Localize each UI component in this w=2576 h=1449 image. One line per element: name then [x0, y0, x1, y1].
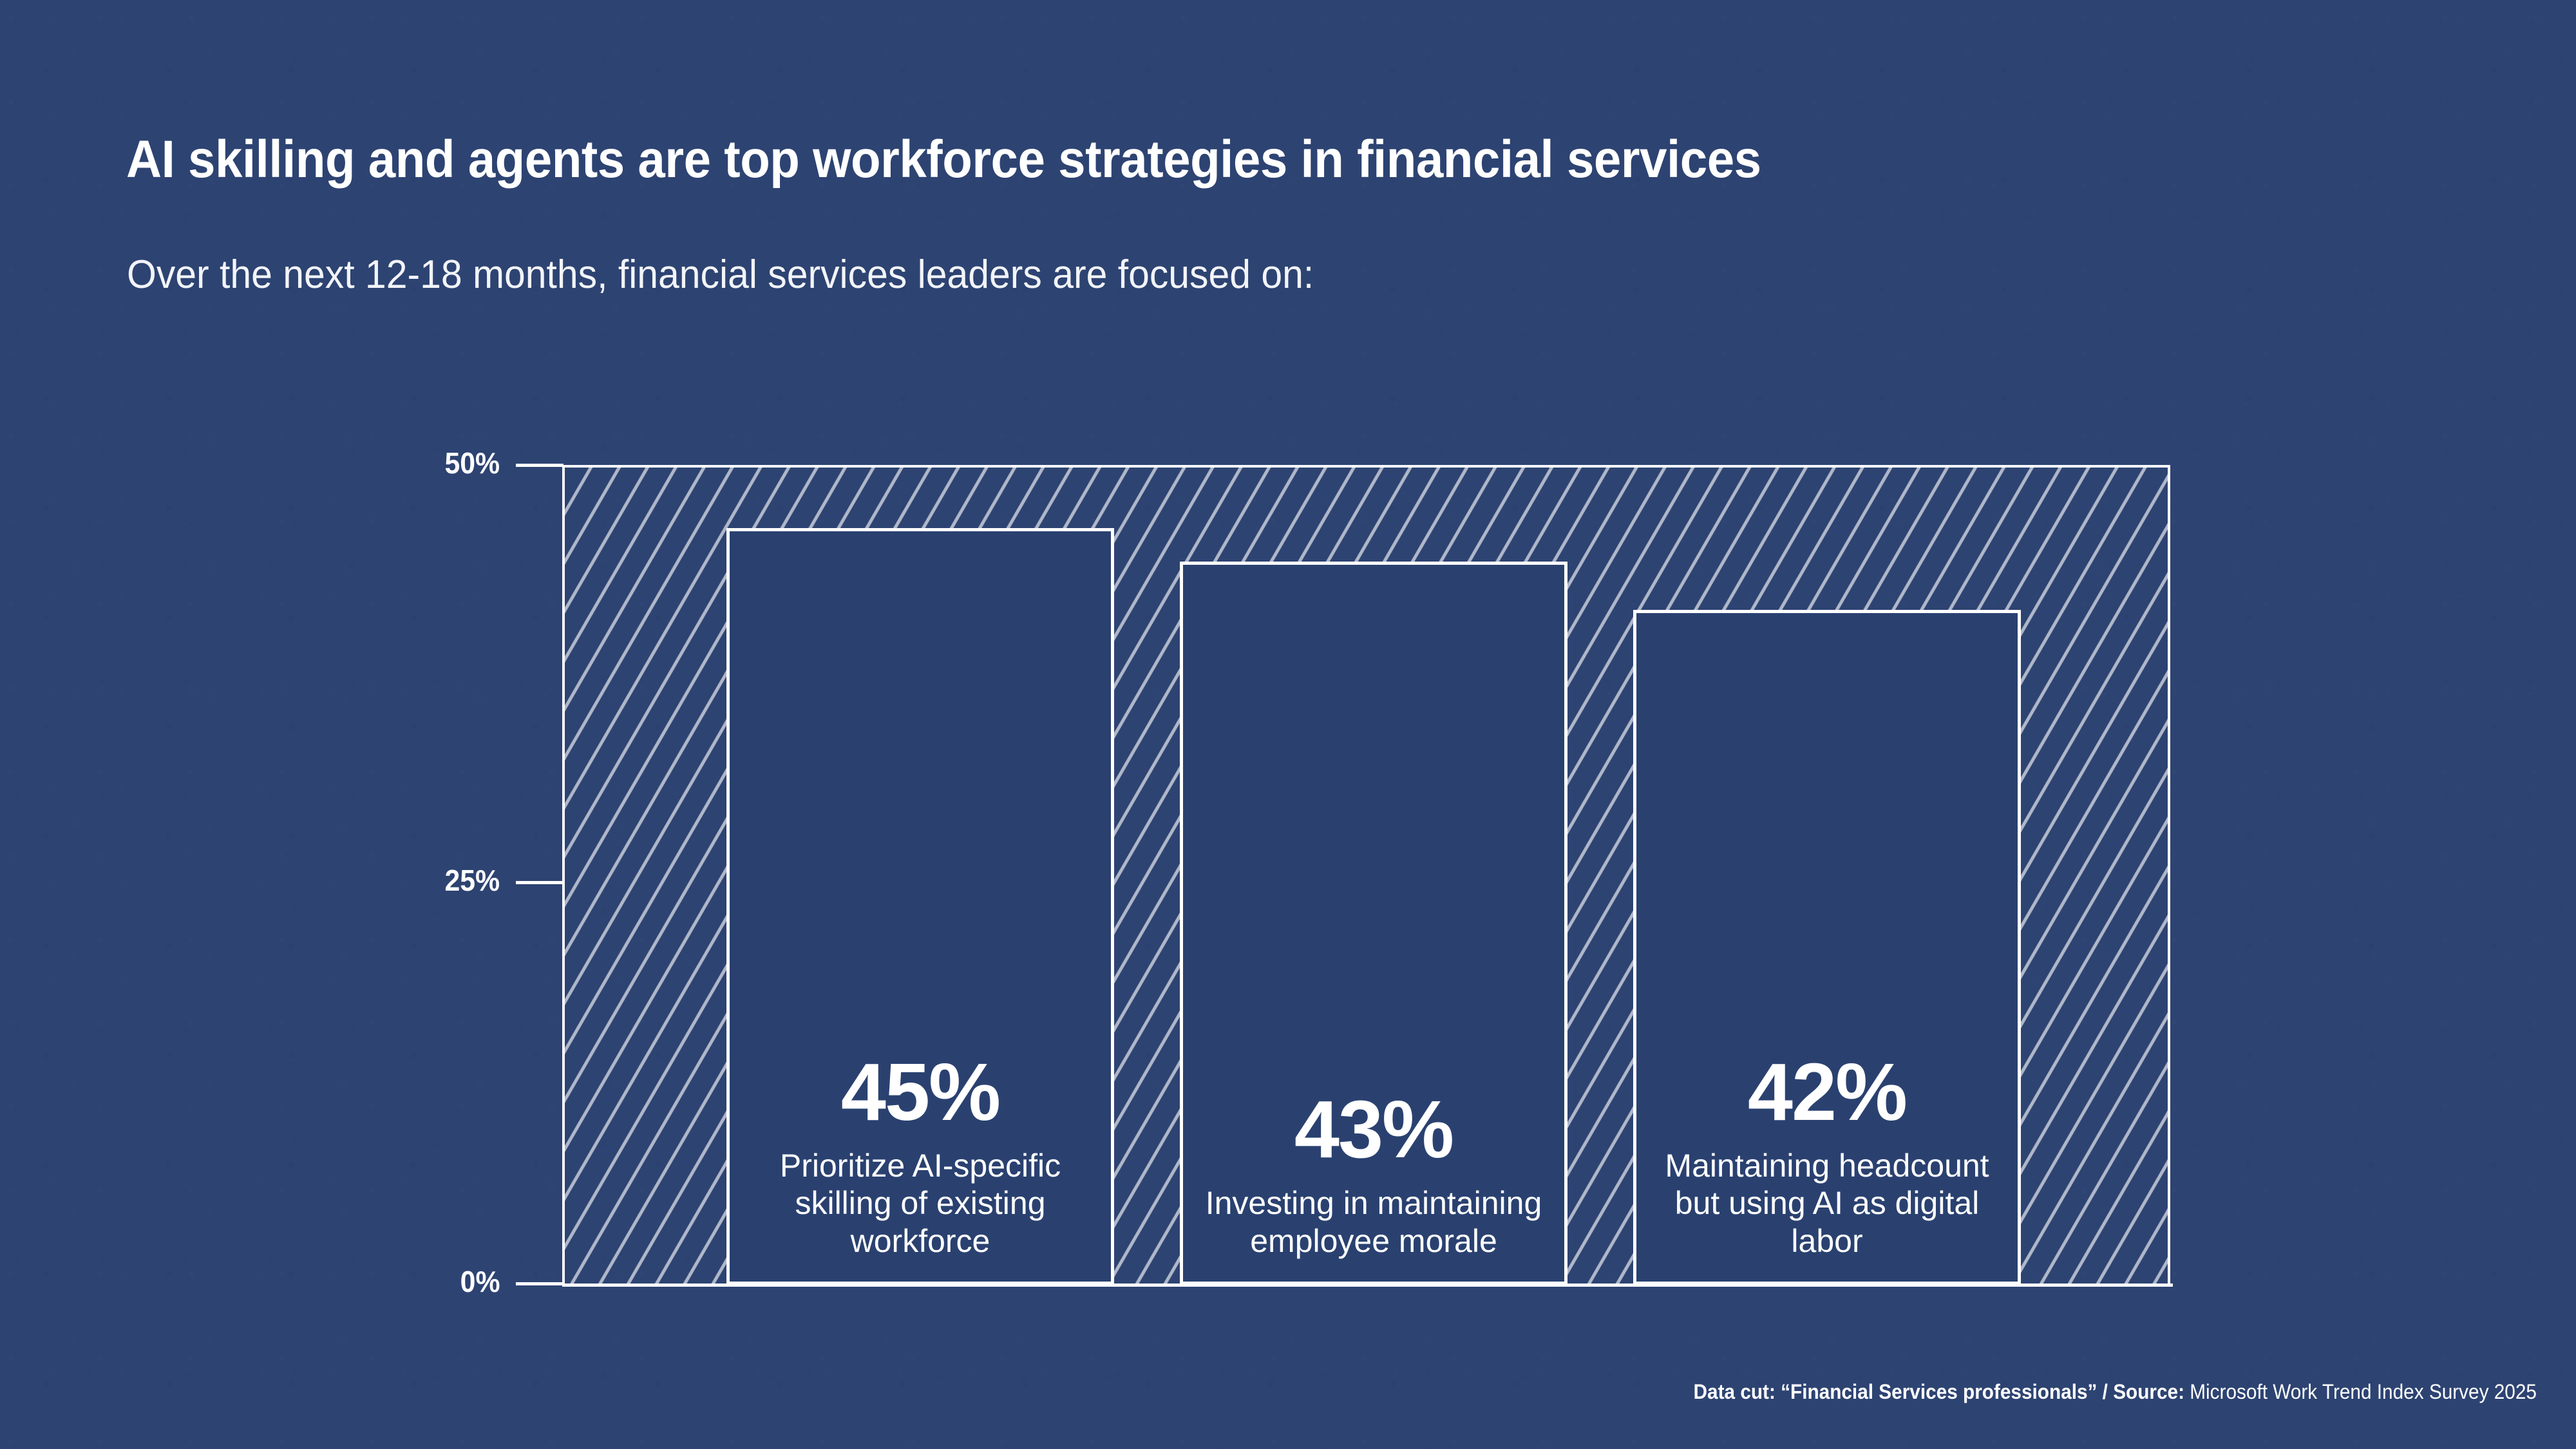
y-tick-label-50: 50% — [444, 448, 500, 478]
slide-canvas: AI skilling and agents are top workforce… — [0, 0, 2576, 1449]
y-tick-label-0: 0% — [460, 1267, 500, 1296]
bar-category-label: Investing in maintaining employee morale — [1183, 1184, 1564, 1271]
y-tick-mark-50 — [516, 464, 563, 467]
y-tick-mark-0 — [516, 1282, 563, 1285]
bar-value-label: 45% — [841, 1052, 999, 1133]
bar-category-label: Prioritize AI-specific skilling of exist… — [730, 1147, 1111, 1272]
bar-ai-digital-labor[interactable]: 42% Maintaining headcount but using AI a… — [1633, 610, 2021, 1285]
bar-chart: 50% 25% 0% 45% Prioritize AI-specific sk… — [0, 0, 2576, 1449]
source-label: Microsoft Work Trend Index Survey 2025 — [2184, 1380, 2537, 1403]
y-tick-mark-25 — [516, 881, 563, 884]
y-tick-label-25: 25% — [444, 866, 500, 895]
bar-value-label: 43% — [1294, 1089, 1453, 1170]
data-cut-label: Data cut: “Financial Services profession… — [1694, 1380, 2184, 1403]
bar-prioritize-ai-skilling[interactable]: 45% Prioritize AI-specific skilling of e… — [726, 528, 1114, 1285]
source-footnote: Data cut: “Financial Services profession… — [1694, 1379, 2537, 1404]
bar-category-label: Maintaining headcount but using AI as di… — [1636, 1147, 2018, 1272]
bar-employee-morale[interactable]: 43% Investing in maintaining employee mo… — [1180, 562, 1567, 1285]
bar-value-label: 42% — [1748, 1052, 1906, 1133]
